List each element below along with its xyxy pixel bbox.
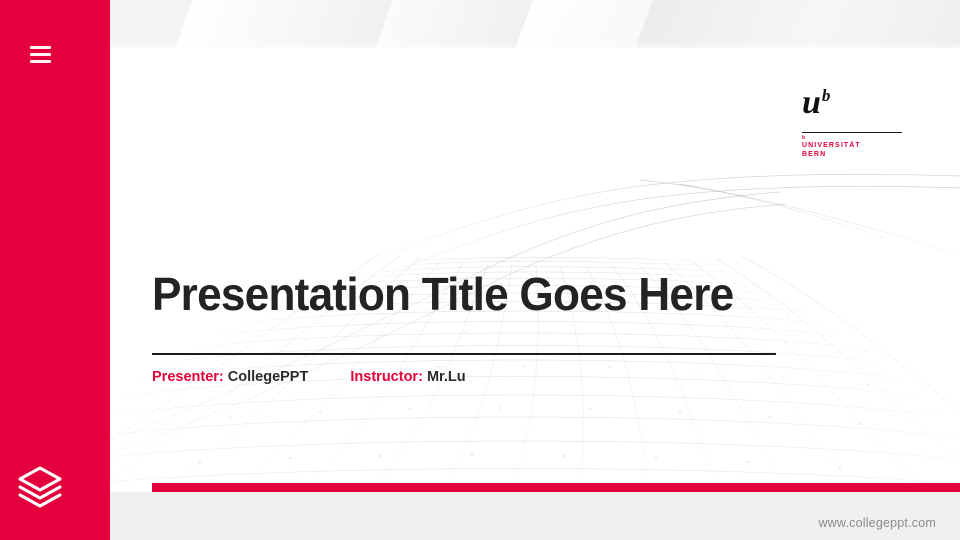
menu-bar-2 [30,53,51,56]
hamburger-menu-icon[interactable] [30,46,51,63]
credits-line: Presenter: CollegePPT Instructor: Mr.Lu [152,369,466,385]
title-divider [152,353,776,355]
presenter-label: Presenter: [152,369,224,385]
ub-logo-tiny-mark: b [802,136,902,141]
presentation-viewer: www.collegeppt.com [0,0,960,540]
ub-logo-wordmark: UNIVERSITÄT BERN [802,142,902,160]
ub-monogram: ub [802,86,902,130]
slide-canvas: ub b UNIVERSITÄT BERN Presentation Title… [80,48,960,492]
left-rail [0,0,110,540]
accent-bar [152,483,960,492]
top-decorative-band [0,0,960,52]
wireframe-terrain-graphic [80,162,960,492]
ub-logo-line-2: BERN [802,151,902,160]
menu-bar-3 [30,60,51,63]
ub-logo-divider [802,132,902,133]
menu-bar-1 [30,46,51,49]
site-url-label: www.collegeppt.com [818,516,936,530]
page-title: Presentation Title Goes Here [152,270,733,318]
layers-stack-logo-icon[interactable] [14,460,66,512]
instructor-label: Instructor: [350,369,423,385]
presenter-value: CollegePPT [228,369,309,385]
instructor-value: Mr.Lu [427,369,466,385]
ub-monogram-b: b [822,86,831,105]
ub-logo-line-1: UNIVERSITÄT [802,142,902,151]
university-logo: ub b UNIVERSITÄT BERN [802,86,902,160]
viewer-footer-bar: www.collegeppt.com [0,492,960,540]
ub-monogram-u: u [802,84,821,121]
